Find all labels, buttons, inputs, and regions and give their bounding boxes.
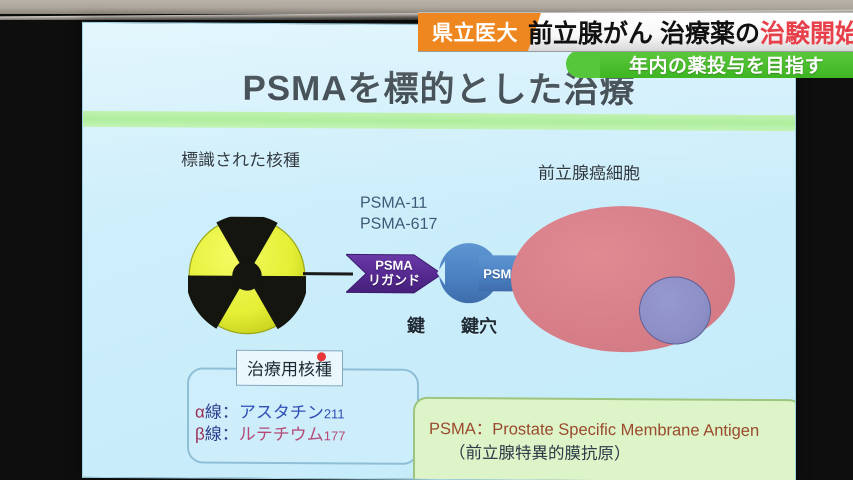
psma-compound-codes: PSMA-11 PSMA-617 (360, 193, 437, 236)
radiation-symbol-icon (188, 216, 306, 335)
treatment-nuclide-rows: α線：アスタチン211 β線：ルテチウム177 (195, 402, 411, 447)
presentation-slide: PSMAを標的とした治療 標識された核種 前立腺癌細胞 鍵 鍵穴 PSMA-11… (82, 22, 796, 480)
label-labeled-nuclide: 標識された核種 (181, 145, 300, 171)
treatment-nuclide-caption-text: 治療用核種 (247, 360, 332, 380)
treatment-row-beta: β線：ルテチウム177 (195, 423, 411, 446)
beta-symbol: β (195, 424, 205, 443)
psma-definition-box: PSMA：Prostate Specific Membrane Antigen … (413, 397, 796, 480)
alpha-nuclide-mass: 211 (324, 406, 345, 421)
treatment-nuclide-caption: 治療用核種 (236, 350, 343, 387)
broadcast-source-tag: 県立医大 (418, 13, 528, 51)
headline-highlight-text: 治験開始 (760, 14, 853, 50)
red-dot-marker-icon (317, 352, 326, 361)
label-keyhole: 鍵穴 (461, 312, 497, 338)
broadcast-headline: 前立腺がん 治療薬の治験開始 (528, 13, 853, 51)
beta-nuclide-mass: 177 (324, 428, 346, 443)
treatment-row-alpha: α線：アスタチン211 (195, 402, 411, 425)
psma-definition-japanese: （前立腺特異的膜抗原） (449, 439, 631, 464)
psma-definition-bullet-line: ▶前立腺がん細胞に多く発現 (429, 475, 643, 480)
projection-screen: PSMAを標的とした治療 標識された核種 前立腺癌細胞 鍵 鍵穴 PSMA-11… (82, 22, 796, 480)
broadcast-subtitle: 年内の薬投与を目指す (600, 50, 853, 78)
screenshot-stage: PSMAを標的とした治療 標識された核種 前立腺癌細胞 鍵 鍵穴 PSMA-11… (0, 0, 853, 480)
psma-definition-english: PSMA：Prostate Specific Membrane Antigen (429, 415, 759, 441)
psma-ligand-shape: PSMA リガンド (346, 242, 442, 305)
broadcast-headline-bar: 県立医大 前立腺がん 治療薬の治験開始 (418, 12, 853, 52)
alpha-sen: 線 (205, 403, 222, 422)
alpha-symbol: α (195, 403, 205, 422)
beta-nuclide-name: ルテチウム (239, 425, 324, 445)
psma-code-617: PSMA-617 (360, 214, 437, 236)
label-cancer-cell: 前立腺癌細胞 (538, 159, 640, 185)
cancer-cell-nucleus (639, 276, 711, 344)
psma-code-11: PSMA-11 (360, 193, 437, 215)
label-key: 鍵 (407, 312, 425, 338)
title-divider-bar (83, 111, 795, 131)
alpha-nuclide-name: アスタチン (239, 403, 324, 423)
alpha-colon: ： (222, 403, 239, 422)
headline-plain-text: 前立腺がん 治療薬の (528, 14, 760, 50)
beta-sen: 線 (205, 424, 222, 443)
beta-colon: ： (222, 424, 239, 443)
